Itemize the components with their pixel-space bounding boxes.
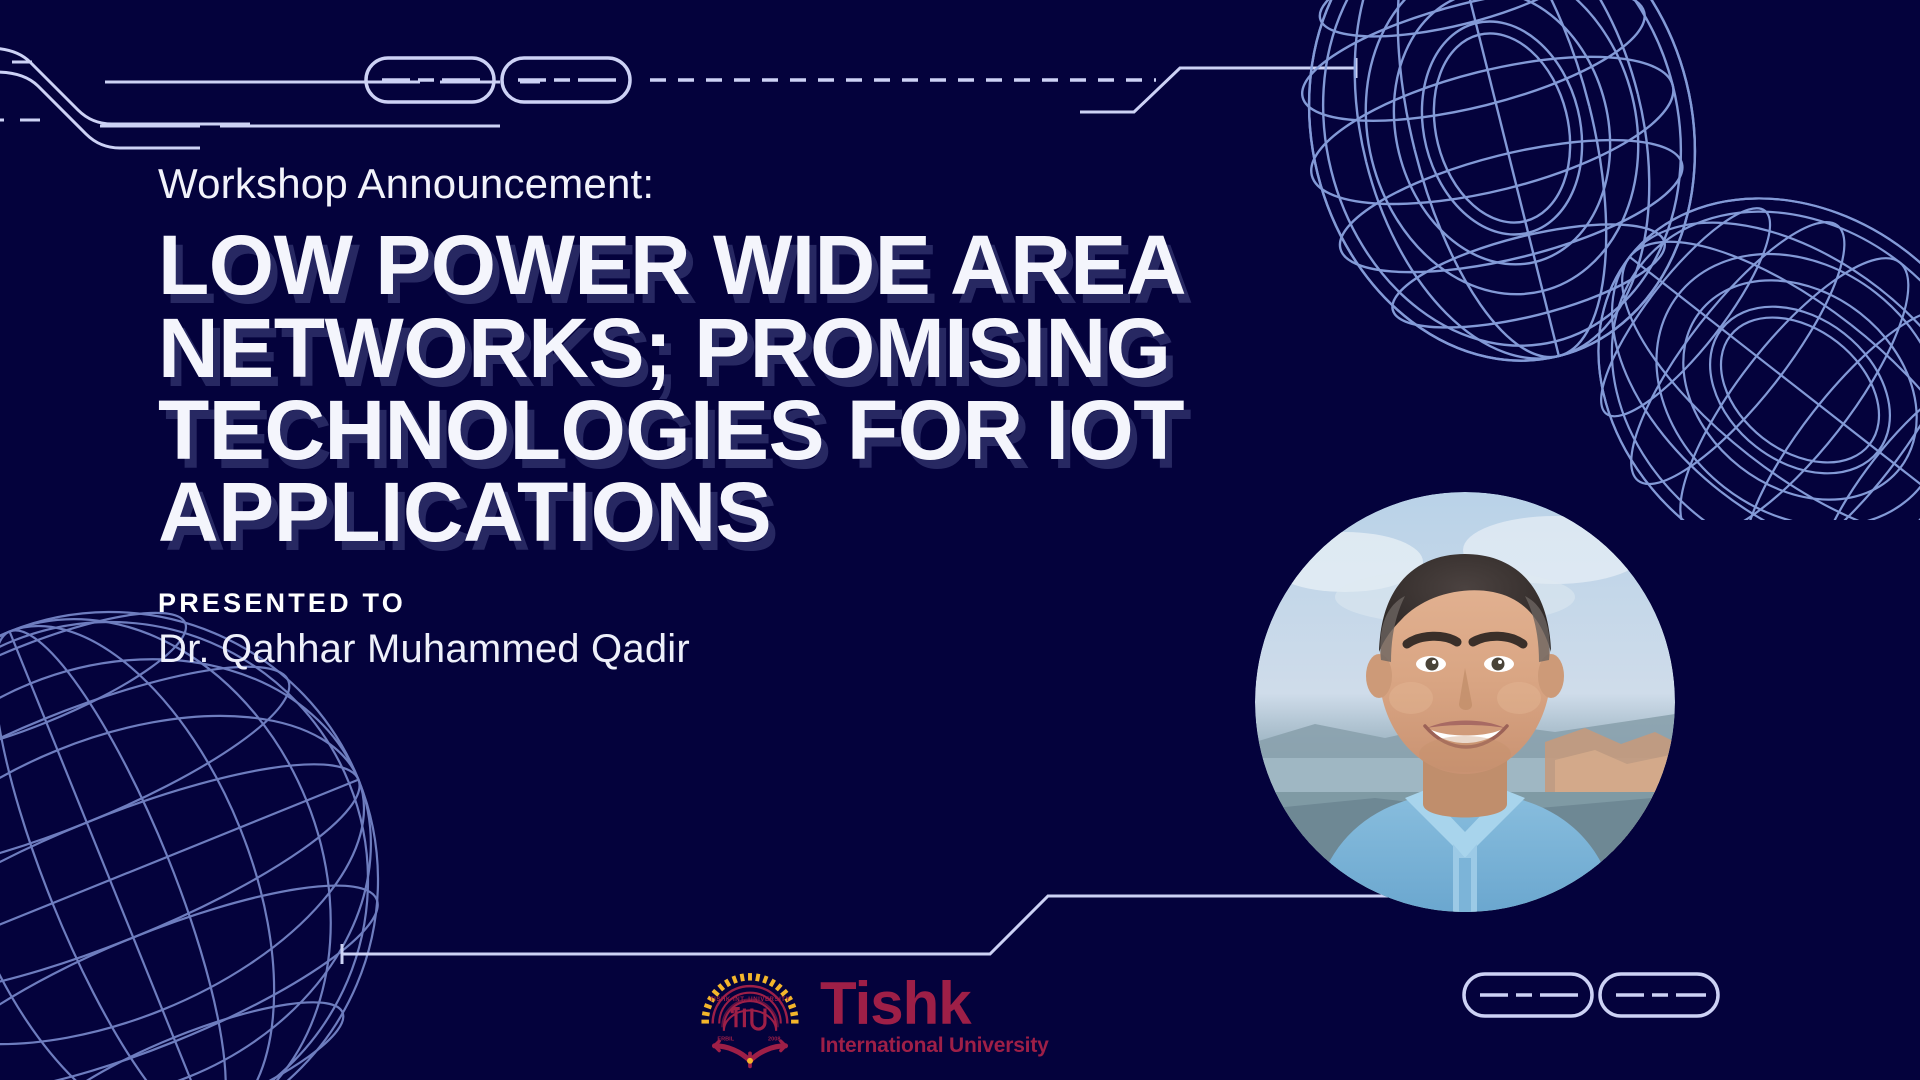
tiu-emblem-icon: TISHK INT. UNIVERSITY ERBIL 2008 xyxy=(694,960,806,1072)
svg-text:2008: 2008 xyxy=(768,1036,780,1042)
presenter-name: Dr. Qahhar Muhammed Qadir xyxy=(158,627,1328,672)
logo-subtitle: International University xyxy=(820,1034,1049,1058)
logo-wordmark: Tishk International University xyxy=(820,975,1049,1058)
page-title: LOW POWER WIDE AREA NETWORKS; PROMISING … xyxy=(158,224,1278,553)
eyebrow-label: Workshop Announcement: xyxy=(158,160,1328,208)
slide-text-content: Workshop Announcement: LOW POWER WIDE AR… xyxy=(158,160,1328,672)
presenter-photo xyxy=(1255,492,1675,912)
top-left-tech-lines-decoration xyxy=(0,0,640,160)
top-step-connector-decoration xyxy=(1080,30,1440,140)
slide-canvas: Workshop Announcement: LOW POWER WIDE AR… xyxy=(0,0,1920,1080)
presented-to-label: PRESENTED TO xyxy=(158,588,1328,619)
globe-wireframe-decoration xyxy=(0,600,390,1080)
double-torus-wireframe-decoration xyxy=(1240,0,1920,520)
university-logo: TISHK INT. UNIVERSITY ERBIL 2008 xyxy=(694,960,1049,1072)
logo-title: Tishk xyxy=(820,975,1049,1032)
bottom-right-capsule-decoration xyxy=(1460,960,1760,1030)
presenter-avatar xyxy=(1255,492,1675,912)
top-capsule-decoration xyxy=(330,30,1230,140)
